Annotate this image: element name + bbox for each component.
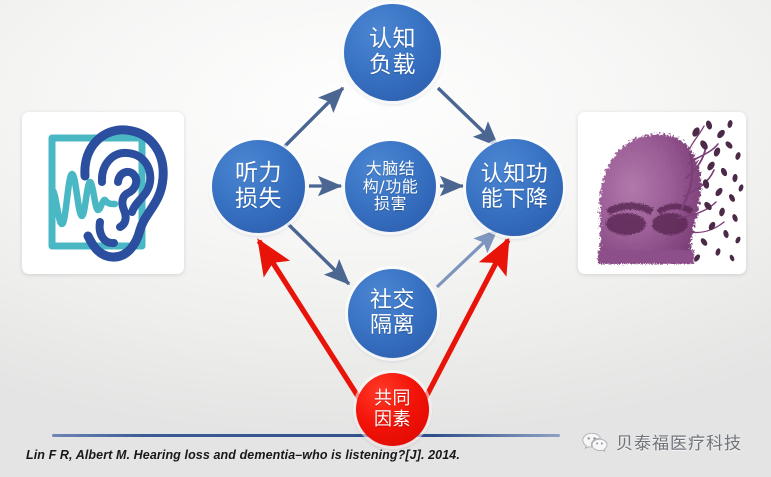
node-label-line: 隔离 xyxy=(370,314,415,339)
slide-canvas: 认知 负载 听力 损失 大脑结 构/功能 损害 认知功 能下降 社交 隔离 共同… xyxy=(0,0,771,477)
node-cognitive-load[interactable]: 认知 负载 xyxy=(344,4,441,101)
node-label-line: 构/功能 xyxy=(363,178,418,196)
node-cognitive-decline[interactable]: 认知功 能下降 xyxy=(466,139,563,236)
node-label-line: 损失 xyxy=(235,187,282,213)
node-label-line: 认知功 xyxy=(481,163,549,188)
edge-hearing-to-cogload xyxy=(284,88,343,147)
node-label-line: 大脑结 xyxy=(366,160,416,178)
node-label-line: 认知 xyxy=(369,27,416,53)
edge-cogload-to-cogdecline xyxy=(438,88,498,146)
node-label-line: 负载 xyxy=(369,53,416,79)
node-label-line: 因素 xyxy=(374,410,411,430)
node-label-line: 损害 xyxy=(374,195,407,213)
node-brain-damage[interactable]: 大脑结 构/功能 损害 xyxy=(345,141,436,232)
node-social-isolation[interactable]: 社交 隔离 xyxy=(348,269,437,358)
node-common-factors[interactable]: 共同 因素 xyxy=(356,373,429,446)
node-label-line: 听力 xyxy=(235,161,282,187)
node-label-line: 共同 xyxy=(374,389,411,409)
node-hearing-loss[interactable]: 听力 损失 xyxy=(212,140,305,233)
node-label-line: 能下降 xyxy=(481,188,549,213)
node-label-line: 社交 xyxy=(370,289,415,314)
edge-hearing-to-social xyxy=(288,224,349,284)
